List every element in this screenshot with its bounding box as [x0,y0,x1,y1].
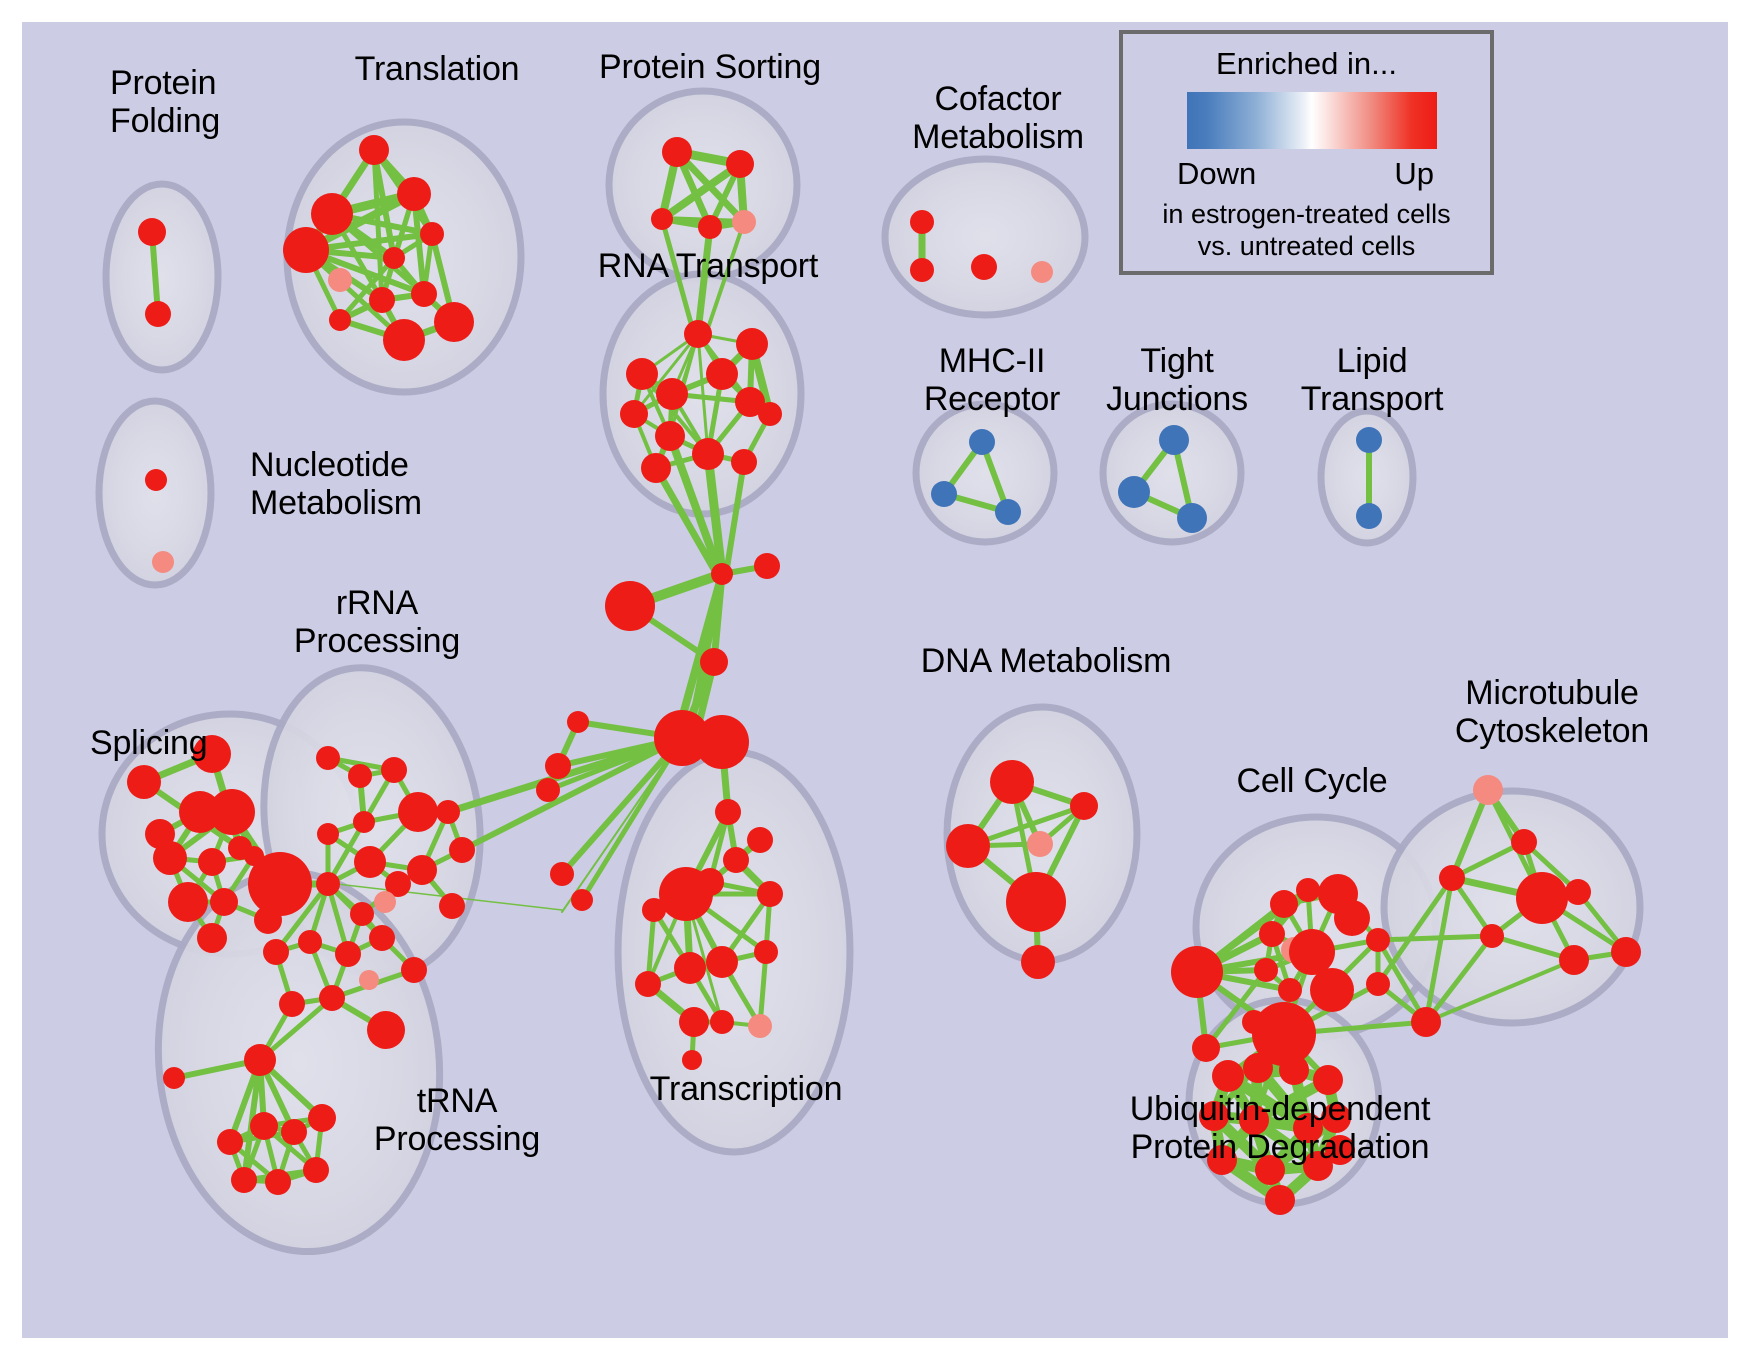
hull-tight-junctions [1103,404,1241,542]
legend-caption-line-1: in estrogen-treated cells [1123,198,1490,230]
enrichment-map-figure: .hull{fill:url(#cgrad);stroke:#aaaac4;st… [0,0,1750,1360]
legend-color-gradient-bar [1187,92,1437,149]
network-canvas[interactable]: .hull{fill:url(#cgrad);stroke:#aaaac4;st… [22,22,1728,1338]
hull-protein-sorting [609,91,797,279]
hull-mhc [916,404,1054,542]
legend-low-label: Down [1177,156,1256,192]
legend-caption-line-2: vs. untreated cells [1123,230,1490,262]
legend-panel: Enriched in... Down Up in estrogen-treat… [1119,30,1494,275]
hull-protein-folding [106,184,218,370]
hull-cofactor [885,159,1085,315]
legend-caption: in estrogen-treated cells vs. untreated … [1123,198,1490,263]
legend-high-label: Up [1394,156,1434,192]
legend-title: Enriched in... [1123,46,1490,82]
